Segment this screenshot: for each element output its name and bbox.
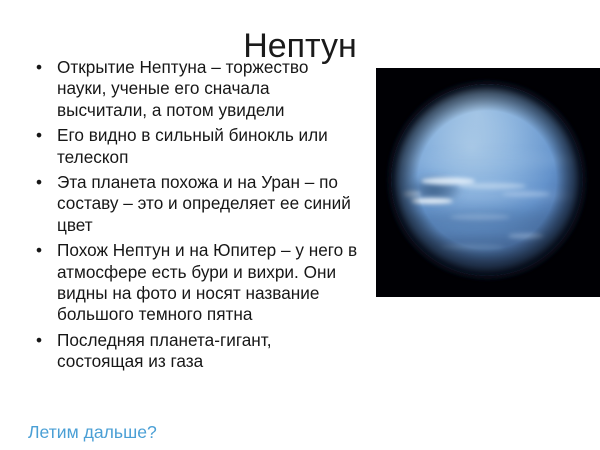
- list-item-text: Эта планета похожа и на Уран – по состав…: [57, 172, 351, 235]
- list-item-text: Открытие Нептуна – торжество науки, учен…: [57, 57, 308, 120]
- list-item: • Его видно в сильный бинокль или телеск…: [28, 125, 362, 168]
- list-item-text: Его видно в сильный бинокль или телескоп: [57, 125, 328, 166]
- list-item: • Последняя планета-гигант, состоящая из…: [28, 330, 362, 373]
- list-item: • Открытие Нептуна – торжество науки, уч…: [28, 57, 362, 121]
- bullet-icon: •: [36, 57, 42, 78]
- list-item: • Эта планета похожа и на Уран – по сост…: [28, 172, 362, 236]
- list-item-text: Похож Нептун и на Юпитер – у него в атмо…: [57, 240, 357, 324]
- slide-canvas: Нептун • Открытие Нептуна – торжество на…: [0, 0, 600, 450]
- list-item: • Похож Нептун и на Юпитер – у него в ат…: [28, 240, 362, 326]
- list-item-text: Последняя планета-гигант, состоящая из г…: [57, 330, 272, 371]
- bullet-icon: •: [36, 125, 42, 146]
- bullet-list: • Открытие Нептуна – торжество науки, уч…: [28, 57, 362, 375]
- next-slide-link[interactable]: Летим дальше?: [28, 421, 157, 443]
- bullet-icon: •: [36, 172, 42, 193]
- bullet-icon: •: [36, 330, 42, 351]
- neptune-planet-illustration: [376, 68, 600, 297]
- neptune-photo: [376, 68, 600, 297]
- bullet-icon: •: [36, 240, 42, 261]
